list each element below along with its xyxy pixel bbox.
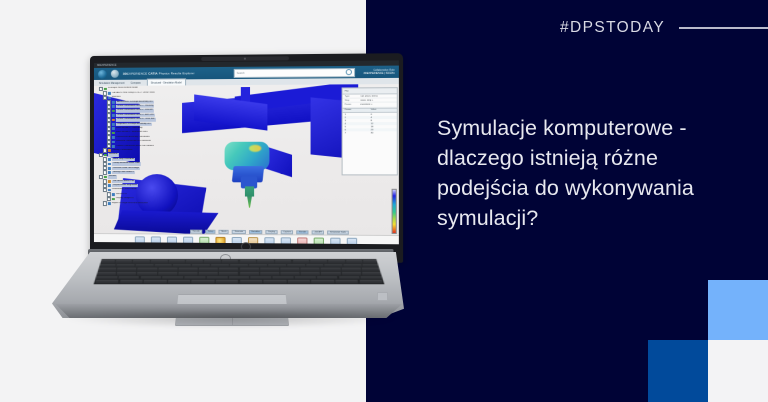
tree-expander-icon[interactable]: + [107,197,111,201]
keyboard-key[interactable] [192,264,210,267]
node-icon [112,127,115,130]
keyboard-key[interactable] [97,268,117,271]
keyboard-key[interactable] [206,276,227,279]
tree-node-label: Static Step Procedure [112,158,135,161]
tree-node-label: 3DShape Finite Element Model [108,87,138,91]
table-cell: 6 [345,129,369,131]
keyboard-key[interactable] [96,280,119,283]
keyboard-key[interactable] [293,260,310,263]
keyboard-key[interactable] [240,280,263,283]
hashtag-row: #DPSTODAY [560,16,768,40]
keyboard-key[interactable] [178,272,197,275]
app-name-label: Physics Results Explorer [159,71,195,75]
tree-node-label: Results [108,175,117,178]
tree-node-label: CATIA&P3 FEM Setup 01 B-17 Linear Static [112,91,155,95]
node-icon [104,88,107,91]
app-workspace: -3DShape Finite Element Model-CATIA&P3 F… [94,84,399,236]
stress-hotspot [249,145,261,152]
tree-node-label: Octree Tetrahedron Mesh.1 : Housing [116,105,154,109]
decor-square-light-blue [708,280,768,340]
keyboard-key[interactable] [186,260,203,263]
table-cell: 2 [345,117,369,119]
keyboard-key[interactable] [169,260,186,263]
feature-tree[interactable]: -3DShape Finite Element Model-CATIA&P3 F… [95,86,187,232]
tree-node-label: Von Mises Stress Plot [112,180,135,183]
table-cell: 4 [371,117,395,119]
table-row: 730 [343,131,397,134]
keyboard-key[interactable] [138,268,157,271]
results-icon [104,176,107,179]
table-cell: 0 [371,113,395,115]
tree-node-label: Loading Connections [112,149,133,152]
keyboard-row [96,280,383,283]
laptop: 3DEXPERIENCE 3DEXPERIENCE CATIA Physics … [52,56,404,356]
keyboard-key[interactable] [335,280,358,283]
keyboard-key[interactable] [178,268,197,271]
brand-name: EXPERIENCE [127,72,147,76]
laptop-keyboard[interactable] [94,259,385,284]
node-icon [112,145,115,148]
sensor-icon [112,193,115,196]
simulation-app: 3DEXPERIENCE 3DEXPERIENCE CATIA Physics … [94,60,399,253]
tree-expander-icon[interactable]: - [103,148,107,152]
decor-square-blue [648,340,708,402]
keyboard-key[interactable] [287,264,305,267]
keyboard-key[interactable] [135,264,153,267]
slide-canvas: #DPSTODAY Symulacje komputerowe - dlacze… [0,0,768,402]
tree-node-label: Materials [112,96,121,99]
keyboard-key[interactable] [251,276,272,279]
tree-node-label: Octree Tetrahedron Mesh.2 : Bracket [116,109,154,113]
mesh-icon [112,114,115,117]
von-mises-stress-legend [392,189,397,234]
keyboard-key[interactable] [96,272,116,275]
plot-icon [108,185,111,188]
tree-node-label: Pressure Load Tool Flange [112,167,140,170]
app-logo-icon [111,70,119,78]
table-column-header: Frame [345,109,369,111]
keyboard-row [96,272,381,275]
property-value: Von Mises Stress [360,95,394,97]
laptop-shadow [66,312,396,328]
keyboard-key[interactable] [144,280,167,283]
laptop-lid: 3DEXPERIENCE 3DEXPERIENCE CATIA Physics … [90,53,403,263]
mesh-icon [112,101,115,104]
table-cell: 1 [345,114,369,116]
keyboard-key[interactable] [249,264,267,267]
plot-icon [108,189,111,192]
keyboard-key[interactable] [361,276,382,279]
keyboard-row [97,264,381,267]
keyboard-key[interactable] [301,268,320,271]
node-icon [108,97,111,100]
keyboard-key[interactable] [199,268,218,271]
keyboard-key[interactable] [260,268,279,271]
step-icon [108,171,111,174]
keyboard-key[interactable] [222,260,239,263]
table-cell: 18 [371,126,395,128]
table-column-header: Value [371,109,395,111]
keyboard-key[interactable] [240,268,259,271]
fingerprint-reader-icon[interactable] [377,292,388,301]
keyboard-key[interactable] [118,276,139,279]
keyboard-row [96,276,382,279]
property-key: Frame [345,104,359,106]
keyboard-key[interactable] [280,272,299,275]
keyboard-key[interactable] [317,276,338,279]
node-icon [108,149,111,152]
keyboard-key[interactable] [162,276,183,279]
mesh-icon [112,119,115,122]
keyboard-key[interactable] [342,272,362,275]
step-icon [108,163,111,166]
keyboard-key[interactable] [260,272,279,275]
account-area[interactable]: Collaborative Role 3DEXPERIENCE | R2024x [363,69,394,76]
table-cell: 5 [345,126,369,128]
plot-icon [108,180,111,183]
keyboard-key[interactable] [359,280,382,283]
table-cell: 8 [371,120,395,122]
keyboard-key[interactable] [321,268,340,271]
keyboard-row [97,268,381,271]
keyboard-key[interactable] [158,268,177,271]
tree-node-label: Gravity Load Global Z [112,171,135,174]
keyboard-key[interactable] [219,268,238,271]
property-value: Static Step 1 [360,99,394,101]
tree-node-label: Clamp Restraint Base Plate [112,162,141,165]
tree-expander-icon[interactable]: - [103,170,107,174]
keyboard-key[interactable] [295,276,316,279]
keyboard-key[interactable] [240,272,259,275]
plot-properties-panel[interactable]: Plot TypeVon Mises StressStepStatic Step… [342,87,398,175]
tree-node-label: Report 3D Rigid Structural Behaviour [112,202,148,206]
keyboard-key[interactable] [133,260,150,263]
tree-node-label: Fastened Connection 001 Interfaces [116,140,151,143]
keyboard-key[interactable] [168,280,191,283]
tree-expander-icon[interactable]: - [103,201,107,205]
keyboard-key[interactable] [263,280,286,283]
tree-node-label: Solid Section.1 : Steel Alloy [116,127,143,130]
search-icon[interactable] [346,69,352,75]
keyboard-key[interactable] [140,276,161,279]
keyboard-key[interactable] [311,280,334,283]
keyboard-key[interactable] [306,264,324,267]
keyboard-key[interactable] [173,264,191,267]
brand-suffix: CATIA [148,71,157,75]
laptop-display: 3DEXPERIENCE 3DEXPERIENCE CATIA Physics … [94,60,399,253]
table-cell: 7 [345,132,369,134]
keyboard-key[interactable] [117,272,137,275]
keyboard-key[interactable] [346,260,363,263]
step-icon [108,167,111,170]
property-key: Step [345,99,359,101]
keyboard-key[interactable] [310,260,327,263]
keyboard-key[interactable] [325,264,343,267]
tree-node-label: Displacement Magnitude [112,184,138,187]
page-title: Symulacje komputerowe - dlaczego istniej… [437,113,747,233]
node-icon [112,136,115,139]
mesh-icon [112,123,115,126]
keyboard-key[interactable] [116,264,134,267]
sensor-icon [112,198,115,201]
tree-node-label: Display Groups 01 [116,197,134,200]
decor-square-white [708,340,768,402]
keyboard-key[interactable] [219,272,238,275]
keyboard-key[interactable] [273,276,294,279]
keyboard-key[interactable] [204,260,221,263]
keyboard-key[interactable] [240,260,257,263]
table-cell: 23 [371,129,395,131]
property-key: Type [345,95,359,97]
keyboard-key[interactable] [137,272,156,275]
keyboard-key[interactable] [287,280,310,283]
search-placeholder: Search [237,71,245,74]
tab-simulation-management[interactable]: Simulation Management [99,81,125,84]
compass-icon[interactable] [98,69,107,78]
tree-node-label: Contact Connection Mesh Part Surface [116,144,154,147]
keyboard-key[interactable] [230,264,248,267]
table-cell: 30 [371,132,395,134]
keyboard-key[interactable] [341,268,361,271]
keyboard-key[interactable] [344,264,362,267]
keyboard-key[interactable] [117,268,136,271]
tree-node-label: Properties 3DShape Assembly 001 [116,122,152,126]
os-title-label: 3DEXPERIENCE [97,64,117,67]
node-icon [112,141,115,144]
node-icon [108,92,111,95]
keyboard-key[interactable] [275,260,292,263]
keyboard-key[interactable] [257,260,274,263]
keyboard-key[interactable] [120,280,143,283]
mesh-icon [112,110,115,113]
scenario-icon [104,154,107,157]
tree-node-label: Connections Assembly Constraints [116,136,150,139]
geometry-tool-tip [247,196,252,208]
keyboard-key[interactable] [211,264,229,267]
keyboard-key[interactable] [268,264,286,267]
tab-compass[interactable]: Compass [131,81,141,84]
keyboard-key[interactable] [321,272,340,275]
table-cell: 12 [371,123,395,125]
table-cell: 3 [345,120,369,122]
table-cell: 4 [345,123,369,125]
keyboard-row [98,260,381,263]
keyboard-key[interactable] [158,272,177,275]
report-icon [108,202,111,205]
keyboard-key[interactable] [115,260,132,263]
tree-node-label: Sensors 01 [116,193,127,196]
keyboard-key[interactable] [184,276,205,279]
keyboard-key[interactable] [362,268,382,271]
tree-expander-icon[interactable]: + [107,144,111,148]
keyboard-key[interactable] [154,264,172,267]
keyboard-key[interactable] [328,260,345,263]
mesh-icon [112,105,115,108]
keyboard-key[interactable] [96,276,117,279]
keyboard-key[interactable] [301,272,320,275]
node-icon [112,132,115,135]
tree-node-label: Solid Section.2 : Aluminium 6061 [116,131,148,134]
keyboard-key[interactable] [216,280,239,283]
tree-node-label: Scenario [108,153,119,156]
step-icon [108,158,111,161]
search-input[interactable]: Search [234,67,355,77]
webcam-icon [201,56,289,61]
geometry-tool [245,186,254,196]
tree-node-label: Abstractions 3DShape Assembly 001 [116,100,154,104]
brand-label: 3DEXPERIENCE CATIA Physics Results Explo… [123,71,195,76]
tree-node-label: Deformation Scale Factor [112,189,137,192]
keyboard-key[interactable] [192,280,215,283]
keyboard-key[interactable] [362,272,382,275]
tree-node[interactable]: -Report 3D Rigid Structural Behaviour [95,201,187,206]
plot-properties-rows: TypeVon Mises StressStepStatic Step 1Fra… [343,94,397,107]
hashtag-divider [679,27,768,29]
keyboard-key[interactable] [280,268,299,271]
hashtag-label: #DPSTODAY [560,19,665,37]
account-platform: 3DEXPERIENCE | R2024x [363,72,394,75]
keyboard-key[interactable] [199,272,218,275]
tree-node-label: Octree Tetrahedron Mesh.3 : Arm Link [116,114,155,118]
keyboard-key[interactable] [151,260,168,263]
tree-node-label: Octree Tetrahedron Mesh.4 : Gear Box [116,118,156,122]
keyboard-key[interactable] [339,276,360,279]
plot-table-body: 102438412518623730 [343,113,397,135]
property-value: Increment 1 [360,104,394,106]
keyboard-key[interactable] [228,276,249,279]
